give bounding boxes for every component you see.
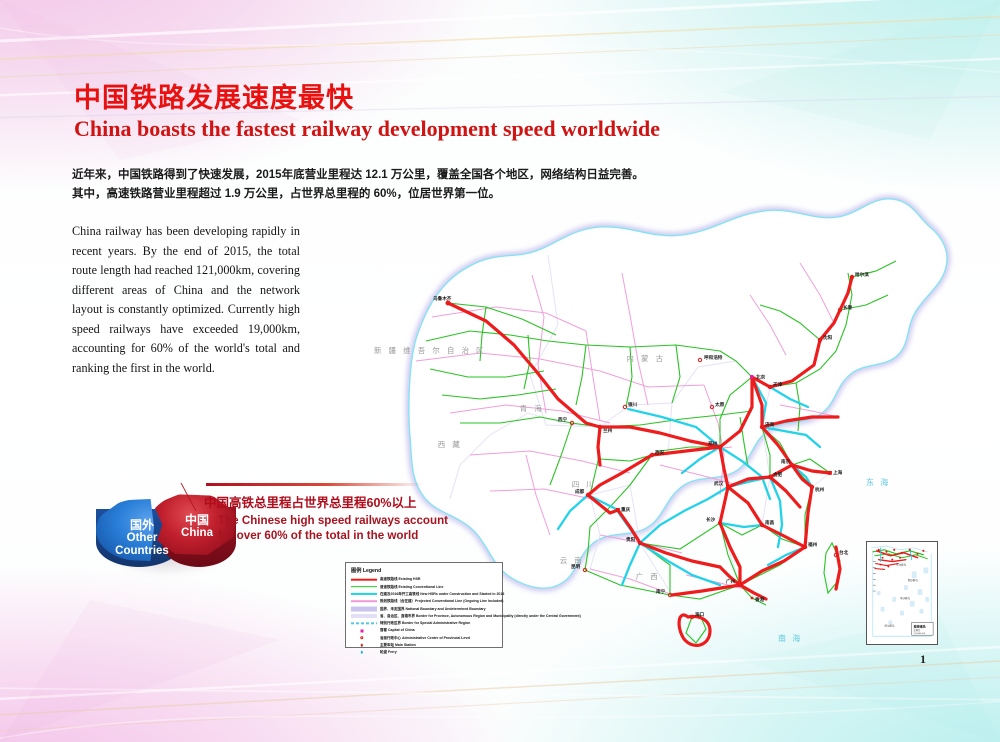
svg-text:海口: 海口: [695, 611, 705, 618]
inset-svg: 东沙群岛 西沙群岛 中沙群岛 南沙群岛 南海诸岛 比例尺 1:34 000 00…: [867, 542, 937, 644]
svg-text:天津: 天津: [773, 381, 783, 388]
callout-text-cn: 中国高铁总里程占世界总里程60%以上: [204, 492, 417, 511]
callout-en-line-1: The Chinese high speed railways account: [218, 513, 448, 528]
page-title-en: China boasts the fastest railway develop…: [74, 116, 660, 142]
region-label-xinjiang: 新 疆 维 吾 尔 自 治 区: [374, 345, 486, 355]
legend-key-band-lavender-icon: [351, 606, 377, 612]
legend-item-line-solid-green: 普速铁路线 Existing Conventional Line: [351, 584, 497, 590]
svg-text:1:34 000 000: 1:34 000 000: [914, 633, 925, 635]
svg-text:南昌: 南昌: [765, 519, 775, 526]
legend-label-line-dashed-cyan: 特别行政区界 Border for Special Administrative…: [380, 621, 470, 625]
svg-text:南宁: 南宁: [656, 588, 666, 595]
svg-text:福州: 福州: [807, 541, 818, 548]
svg-text:西宁: 西宁: [558, 416, 568, 423]
svg-text:上海: 上海: [833, 469, 843, 476]
pie-label-china: 中国 China: [172, 514, 222, 540]
legend-key-dot-magenta-icon: [351, 628, 377, 634]
legend-label-band-lavender: 国界、未定国界 National Boundary and Undetermin…: [380, 607, 486, 611]
svg-text:贵阳: 贵阳: [626, 536, 636, 543]
sea-label-south: 南 海: [778, 633, 802, 643]
svg-text:北京: 北京: [756, 374, 766, 381]
svg-text:杭州: 杭州: [815, 486, 825, 493]
svg-text:哈尔滨: 哈尔滨: [855, 271, 869, 278]
svg-text:郑州: 郑州: [708, 440, 718, 447]
intro-cn-line-1: 近年来，中国铁路得到了快速发展，2015年底营业里程达 12.1 万公里，覆盖全…: [72, 166, 672, 185]
region-label-xizang: 西 藏: [438, 439, 463, 449]
legend-label-dot-cyan-small: 轮渡 Ferry: [380, 650, 397, 654]
sea-label-east: 东 海: [866, 477, 890, 487]
pie-label-china-cn: 中国: [172, 514, 222, 527]
legend-key-line-solid-green-icon: [351, 584, 377, 590]
inset-scale-label: 南海诸岛: [914, 623, 926, 628]
svg-text:长沙: 长沙: [706, 516, 716, 523]
legend-key-line-dashed-cyan-icon: [351, 620, 377, 626]
legend-key-band-pale-icon: [351, 613, 377, 619]
region-label-sichuan: 四 川: [572, 480, 597, 489]
pie-label-other-countries: 国外 Other Countries: [102, 519, 182, 558]
intro-paragraph-cn: 近年来，中国铁路得到了快速发展，2015年底营业里程达 12.1 万公里，覆盖全…: [72, 166, 672, 204]
legend-item-dot-cyan-small: 轮渡 Ferry: [351, 649, 497, 655]
svg-text:呼和浩特: 呼和浩特: [704, 354, 723, 361]
intro-cn-line-2: 其中，高速铁路营业里程超过 1.9 万公里，占世界总里程的 60%，位居世界第一…: [72, 185, 672, 204]
svg-text:南京: 南京: [781, 458, 791, 465]
pie-label-other-en-2: Countries: [102, 545, 182, 558]
svg-text:重庆: 重庆: [621, 506, 631, 513]
page-title-cn: 中国铁路发展速度最快: [74, 76, 354, 115]
svg-text:广州: 广州: [726, 578, 736, 585]
legend-label-dot-red-small: 主要车站 Main Station: [380, 643, 416, 647]
legend-label-line-solid-red: 高速铁路线 Existing HSR: [380, 577, 420, 581]
svg-text:南沙群岛: 南沙群岛: [885, 623, 896, 627]
callout-en-line-2: for over 60% of the total in the world: [218, 528, 448, 543]
svg-text:合肥: 合肥: [773, 471, 783, 478]
svg-text:昆明: 昆明: [571, 563, 581, 570]
svg-text:西安: 西安: [655, 449, 665, 456]
svg-text:兰州: 兰州: [603, 427, 613, 434]
svg-text:香港: 香港: [754, 596, 765, 603]
legend-key-line-solid-cyan-icon: [351, 591, 377, 597]
city-marker-hongkong: 香港: [751, 596, 765, 603]
legend-title: 图例 Legend: [351, 567, 497, 574]
pie-label-other-cn: 国外: [102, 519, 182, 532]
legend-label-band-pale: 省、自治区、直辖市界 Border for Province, Autonomo…: [380, 614, 581, 618]
legend-label-line-solid-cyan: 在建及2016年开工高铁线 New HSRs under Constructio…: [380, 592, 504, 596]
svg-text:武汉: 武汉: [714, 480, 724, 487]
svg-text:济南: 济南: [765, 421, 775, 428]
legend-item-line-solid-pink: 规划铁路线（含在建）Projected Conventional Line (O…: [351, 598, 497, 604]
legend-item-line-solid-red: 高速铁路线 Existing HSR: [351, 577, 497, 583]
inset-scale-box: 南海诸岛 比例尺 1:34 000 000: [912, 622, 933, 635]
svg-text:银川: 银川: [627, 401, 638, 408]
legend-label-line-solid-green: 普速铁路线 Existing Conventional Line: [380, 585, 443, 589]
legend-item-dot-red-small: 主要车站 Main Station: [351, 642, 497, 648]
svg-text:台北: 台北: [839, 549, 849, 556]
legend-key-line-solid-pink-icon: [351, 598, 377, 604]
pie-label-china-en: China: [172, 527, 222, 540]
legend-label-dot-red-ring: 省级行政中心 Administrative Center of Provinci…: [380, 636, 470, 640]
svg-text:沈阳: 沈阳: [823, 334, 833, 341]
region-label-qinghai: 青 海: [520, 403, 545, 413]
svg-text:成都: 成都: [575, 488, 585, 495]
svg-text:中沙群岛: 中沙群岛: [900, 596, 911, 600]
svg-text:长春: 长春: [843, 304, 853, 311]
pie-label-other-en-1: Other: [102, 532, 182, 545]
legend-item-line-solid-cyan: 在建及2016年开工高铁线 New HSRs under Constructio…: [351, 591, 497, 597]
legend-key-dot-red-small-icon: [351, 642, 377, 648]
region-label-guangxi: 广 西: [636, 571, 661, 581]
svg-text:乌鲁木齐: 乌鲁木齐: [433, 295, 452, 302]
legend-item-dot-magenta: 首都 Capital of China: [351, 627, 497, 633]
intro-paragraph-en: China railway has been developing rapidl…: [72, 222, 300, 378]
legend-label-dot-magenta: 首都 Capital of China: [380, 628, 415, 632]
legend-item-band-pale: 省、自治区、直辖市界 Border for Province, Autonomo…: [351, 613, 497, 619]
map-legend: 图例 Legend 高速铁路线 Existing HSR普速铁路线 Existi…: [345, 562, 503, 648]
svg-text:西沙群岛: 西沙群岛: [908, 578, 919, 582]
svg-text:东沙群岛: 东沙群岛: [896, 563, 907, 567]
south-china-sea-inset-map[interactable]: 东沙群岛 西沙群岛 中沙群岛 南沙群岛 南海诸岛 比例尺 1:34 000 00…: [866, 541, 938, 645]
svg-text:太原: 太原: [715, 401, 725, 408]
callout-text-en: The Chinese high speed railways account …: [218, 513, 448, 543]
legend-key-dot-cyan-small-icon: [351, 649, 377, 655]
region-label-neimenggu: 内 蒙 古: [626, 353, 665, 363]
legend-key-dot-red-ring-icon: [351, 635, 377, 641]
legend-label-line-solid-pink: 规划铁路线（含在建）Projected Conventional Line (O…: [380, 599, 503, 603]
legend-key-line-solid-red-icon: [351, 577, 377, 583]
legend-item-dot-red-ring: 省级行政中心 Administrative Center of Provinci…: [351, 635, 497, 641]
callout-rule: [206, 483, 424, 486]
legend-item-band-lavender: 国界、未定国界 National Boundary and Undetermin…: [351, 606, 497, 612]
page-number: 1: [920, 652, 926, 667]
legend-item-line-dashed-cyan: 特别行政区界 Border for Special Administrative…: [351, 620, 497, 626]
legend-rows: 高速铁路线 Existing HSR普速铁路线 Existing Convent…: [351, 577, 497, 656]
